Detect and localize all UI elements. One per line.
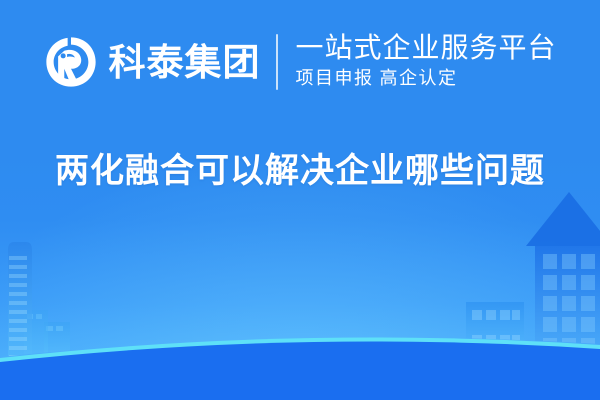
slogan-main: 一站式企业服务平台: [295, 33, 556, 63]
ketai-group-logo-icon: [43, 34, 99, 90]
promo-banner: 科泰集团 一站式企业服务平台 项目申报 高企认定 两化融合可以解决企业哪些问题: [0, 0, 600, 400]
slogan-sub: 项目申报 高企认定: [295, 66, 556, 90]
brand-name: 科泰集团: [108, 44, 260, 81]
page-title: 两化融合可以解决企业哪些问题: [0, 150, 600, 193]
header-divider: [276, 34, 278, 90]
slogan-block: 一站式企业服务平台 项目申报 高企认定: [295, 33, 556, 91]
banner-header: 科泰集团 一站式企业服务平台 项目申报 高企认定: [0, 22, 600, 102]
